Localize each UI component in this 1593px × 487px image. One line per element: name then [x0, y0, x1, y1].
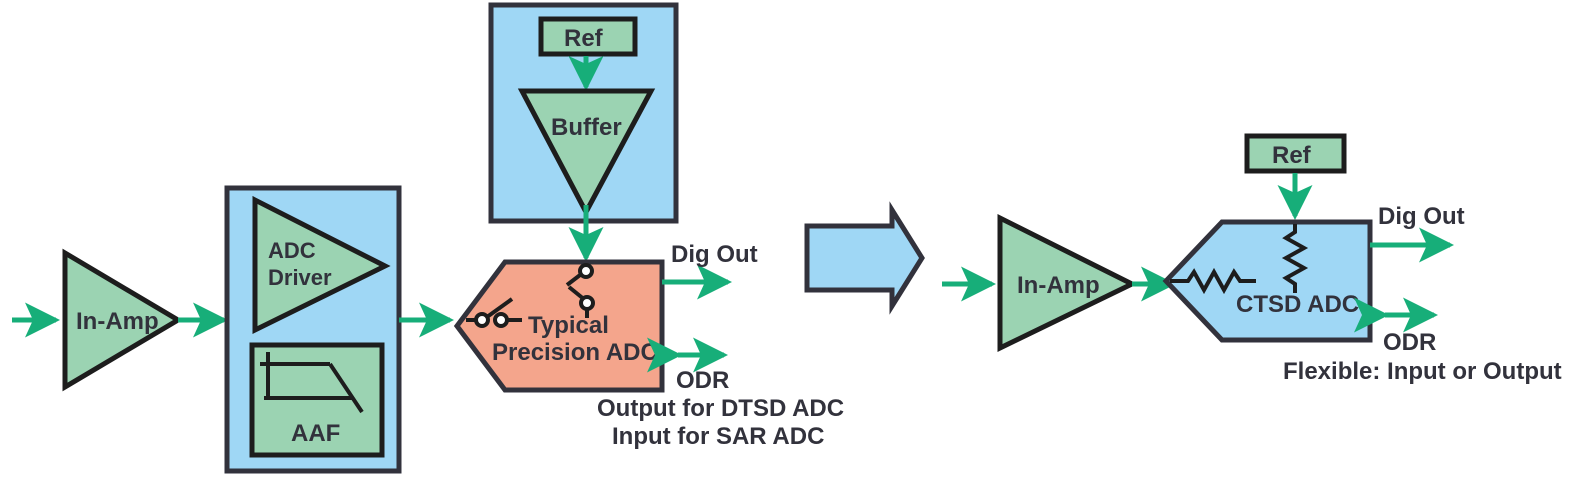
- aaf-block[interactable]: AAF: [252, 345, 382, 455]
- right-ref-label: Ref: [1272, 142, 1312, 169]
- left-dig-out-label: Dig Out: [671, 241, 758, 268]
- typical-precision-adc-label-line2: Precision ADC: [492, 339, 658, 366]
- right-ref-box[interactable]: Ref: [1247, 136, 1344, 171]
- right-in-amp-block[interactable]: In-Amp: [1000, 218, 1132, 348]
- left-odr-note-line2: Input for SAR ADC: [612, 423, 824, 450]
- left-buffer-label: Buffer: [551, 114, 622, 141]
- transition-block-arrow-icon: [807, 210, 922, 306]
- right-odr-note: Flexible: Input or Output: [1283, 358, 1562, 385]
- right-odr-label: ODR: [1383, 329, 1436, 356]
- right-dig-out-label: Dig Out: [1378, 203, 1465, 230]
- ctsd-adc-block[interactable]: CTSD ADC: [1166, 222, 1370, 340]
- left-in-amp-block[interactable]: In-Amp: [65, 253, 178, 387]
- adc-driver-label-line1: ADC: [268, 238, 316, 263]
- left-ref-label: Ref: [564, 25, 604, 52]
- aaf-label: AAF: [291, 420, 340, 447]
- left-in-amp-label: In-Amp: [76, 308, 159, 335]
- left-ref-box[interactable]: Ref: [541, 19, 635, 54]
- typical-precision-adc-block[interactable]: Typical Precision ADC: [457, 262, 662, 390]
- adc-driver-label-line2: Driver: [268, 265, 332, 290]
- right-in-amp-label: In-Amp: [1017, 272, 1100, 299]
- ctsd-adc-label: CTSD ADC: [1236, 291, 1359, 318]
- left-odr-label: ODR: [676, 367, 729, 394]
- typical-precision-adc-label-line1: Typical: [528, 312, 609, 339]
- diagram-canvas: In-Amp ADC Driver AAF Ref: [0, 0, 1593, 487]
- left-odr-note-line1: Output for DTSD ADC: [597, 395, 844, 422]
